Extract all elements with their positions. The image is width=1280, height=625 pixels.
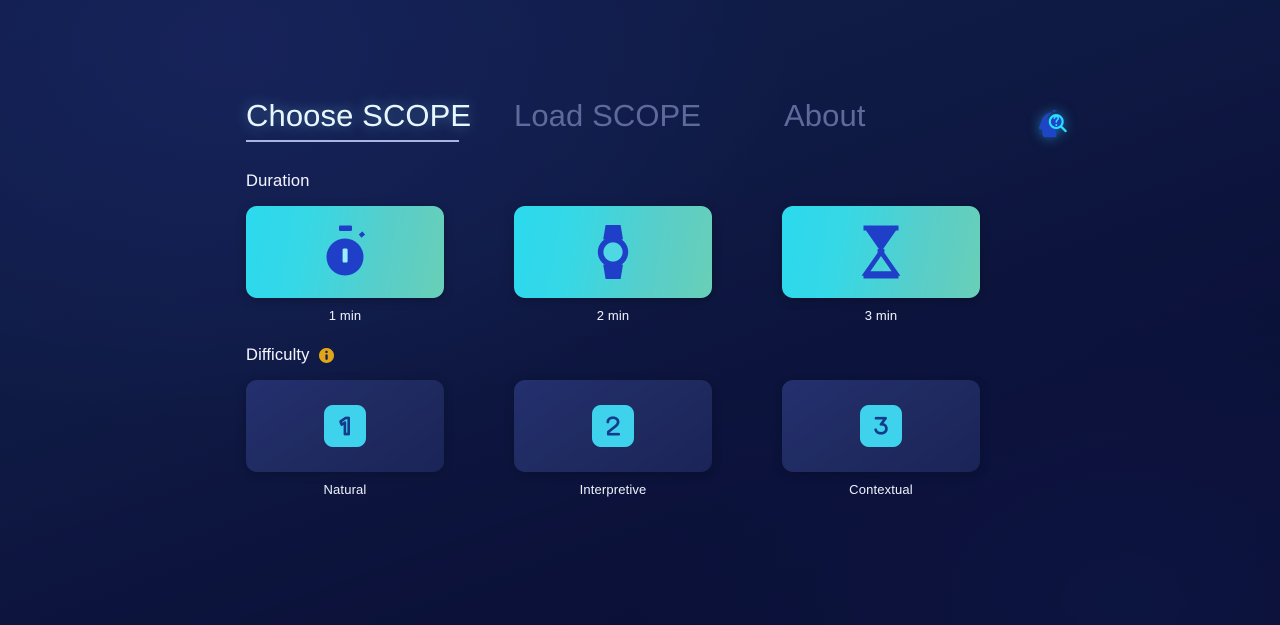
- duration-option-3min[interactable]: 3 min: [782, 206, 980, 322]
- tab-bar: Choose SCOPE Load SCOPE About: [246, 100, 964, 151]
- number-2-badge: [592, 405, 634, 447]
- header: Choose SCOPE Load SCOPE About: [246, 100, 1076, 152]
- duration-label-2min: 2 min: [597, 309, 630, 322]
- tab-about[interactable]: About: [784, 100, 964, 140]
- number-3-badge: [860, 405, 902, 447]
- section-difficulty: Difficulty Natural: [246, 344, 980, 496]
- app-root: Choose SCOPE Load SCOPE About: [0, 0, 1280, 625]
- difficulty-label-interpretive: Interpretive: [580, 483, 647, 496]
- duration-label-3min: 3 min: [865, 309, 898, 322]
- duration-card-1min[interactable]: [246, 206, 444, 298]
- head-search-question-icon[interactable]: [1036, 108, 1070, 142]
- hourglass-icon: [859, 223, 903, 281]
- section-duration-title: Duration: [246, 173, 310, 190]
- duration-card-3min[interactable]: [782, 206, 980, 298]
- section-difficulty-header: Difficulty: [246, 344, 980, 366]
- difficulty-card-contextual[interactable]: [782, 380, 980, 472]
- difficulty-card-natural[interactable]: [246, 380, 444, 472]
- section-duration: Duration 1 min: [246, 170, 980, 322]
- number-1-badge: [324, 405, 366, 447]
- difficulty-option-natural[interactable]: Natural: [246, 380, 444, 496]
- active-tab-underline: [246, 140, 459, 142]
- tab-choose-scope[interactable]: Choose SCOPE: [246, 100, 514, 151]
- watch-icon: [590, 223, 636, 281]
- difficulty-label-contextual: Contextual: [849, 483, 913, 496]
- duration-options: 1 min 2 min: [246, 206, 980, 322]
- tab-load-scope[interactable]: Load SCOPE: [514, 100, 784, 140]
- duration-option-1min[interactable]: 1 min: [246, 206, 444, 322]
- difficulty-label-natural: Natural: [324, 483, 367, 496]
- tab-choose-scope-label: Choose SCOPE: [246, 98, 471, 133]
- duration-card-2min[interactable]: [514, 206, 712, 298]
- difficulty-option-contextual[interactable]: Contextual: [782, 380, 980, 496]
- difficulty-option-interpretive[interactable]: Interpretive: [514, 380, 712, 496]
- section-duration-header: Duration: [246, 170, 980, 192]
- tab-load-scope-label: Load SCOPE: [514, 98, 701, 133]
- duration-label-1min: 1 min: [329, 309, 362, 322]
- difficulty-card-interpretive[interactable]: [514, 380, 712, 472]
- tab-about-label: About: [784, 98, 866, 133]
- info-icon[interactable]: [319, 348, 334, 363]
- stopwatch-icon: [319, 224, 371, 280]
- difficulty-options: Natural Interpretive: [246, 380, 980, 496]
- duration-option-2min[interactable]: 2 min: [514, 206, 712, 322]
- section-difficulty-title: Difficulty: [246, 347, 310, 364]
